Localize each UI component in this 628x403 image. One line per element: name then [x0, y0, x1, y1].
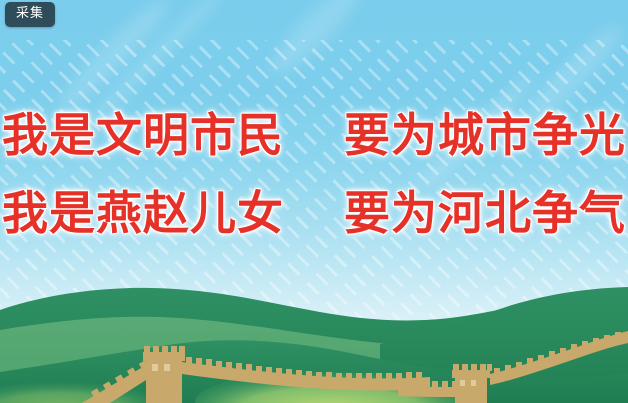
capture-button[interactable]: 采集	[5, 2, 55, 27]
poster-canvas: 我是文明市民 要为城市争光 我是燕赵儿女 要为河北争气 采集	[0, 0, 628, 403]
sky-background	[0, 0, 628, 403]
